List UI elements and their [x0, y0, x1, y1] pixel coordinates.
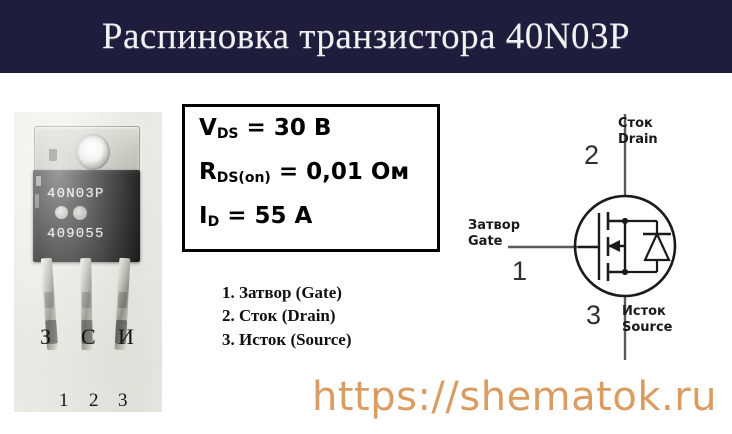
spec-id-value: = 55 A — [227, 203, 312, 229]
photo-pin-number-3: 3 — [118, 390, 128, 412]
manufacturer-logo-icon — [55, 206, 68, 219]
schematic-pin-number-source: 3 — [586, 300, 601, 331]
body-marking-part-number: 40N03P — [47, 186, 105, 202]
spec-row-vds: VDS = 30 В — [199, 117, 437, 140]
lead-2-shadow-b — [82, 292, 91, 308]
photo-pin-number-2: 2 — [89, 390, 99, 412]
schematic-label-drain: Сток Drain — [618, 116, 658, 147]
schematic-label-gate: Затвор Gate — [468, 218, 520, 249]
list-item: 2. Сток (Drain) — [222, 304, 432, 327]
pinout-legend: 1. Затвор (Gate) 2. Сток (Drain) 3. Исто… — [222, 281, 432, 351]
title-banner: Распиновка транзистора 40N03P — [0, 0, 732, 73]
epoxy-body: 40N03P 409055 — [33, 170, 140, 262]
spec-id-subscript: D — [208, 214, 220, 230]
spec-vds-subscript: DS — [217, 126, 239, 142]
photo-pin-letter-drain: С — [81, 324, 96, 350]
schematic-pin-number-gate: 1 — [512, 256, 527, 287]
photo-pin-letter-source: И — [118, 324, 134, 350]
spec-rdson-symbol: R — [199, 159, 217, 185]
specifications-box: VDS = 30 В RDS(on) = 0,01 Ом ID = 55 A — [182, 104, 440, 252]
lead-1-shadow-b — [44, 292, 54, 309]
spec-id-symbol: I — [199, 203, 208, 229]
page-title: Распиновка транзистора 40N03P — [102, 15, 630, 58]
spec-row-id: ID = 55 A — [199, 205, 437, 228]
tab-notch — [49, 149, 57, 161]
body-highlight-1 — [36, 176, 41, 186]
schematic-label-source: Исток Source — [622, 304, 672, 335]
page-root: Распиновка транзистора 40N03P 40N03P 409… — [0, 0, 732, 434]
list-item: 3. Исток (Source) — [222, 328, 432, 351]
schematic-pin-number-drain: 2 — [584, 140, 599, 171]
mounting-hole-inner — [84, 141, 103, 162]
date-code-logo-icon — [73, 206, 87, 220]
spec-vds-value: = 30 В — [247, 115, 332, 141]
photo-pin-number-1: 1 — [59, 390, 69, 412]
body-marking-lot-code: 409055 — [47, 226, 105, 242]
spec-vds-symbol: V — [199, 115, 217, 141]
body-highlight-2 — [35, 194, 39, 208]
list-item: 1. Затвор (Gate) — [222, 281, 432, 304]
spec-rdson-value: = 0,01 Ом — [279, 159, 409, 185]
spec-row-rdson: RDS(on) = 0,01 Ом — [199, 161, 437, 184]
photo-pin-letter-gate: З — [40, 324, 51, 350]
site-watermark: https://shematok.ru — [312, 374, 717, 420]
spec-rdson-subscript: DS(on) — [217, 170, 271, 186]
mosfet-schematic-symbol: Сток Drain Затвор Gate Исток Source 2 1 … — [466, 108, 722, 368]
lead-3-shadow-b — [118, 292, 128, 308]
transistor-photo: 40N03P 409055 — [14, 112, 162, 412]
